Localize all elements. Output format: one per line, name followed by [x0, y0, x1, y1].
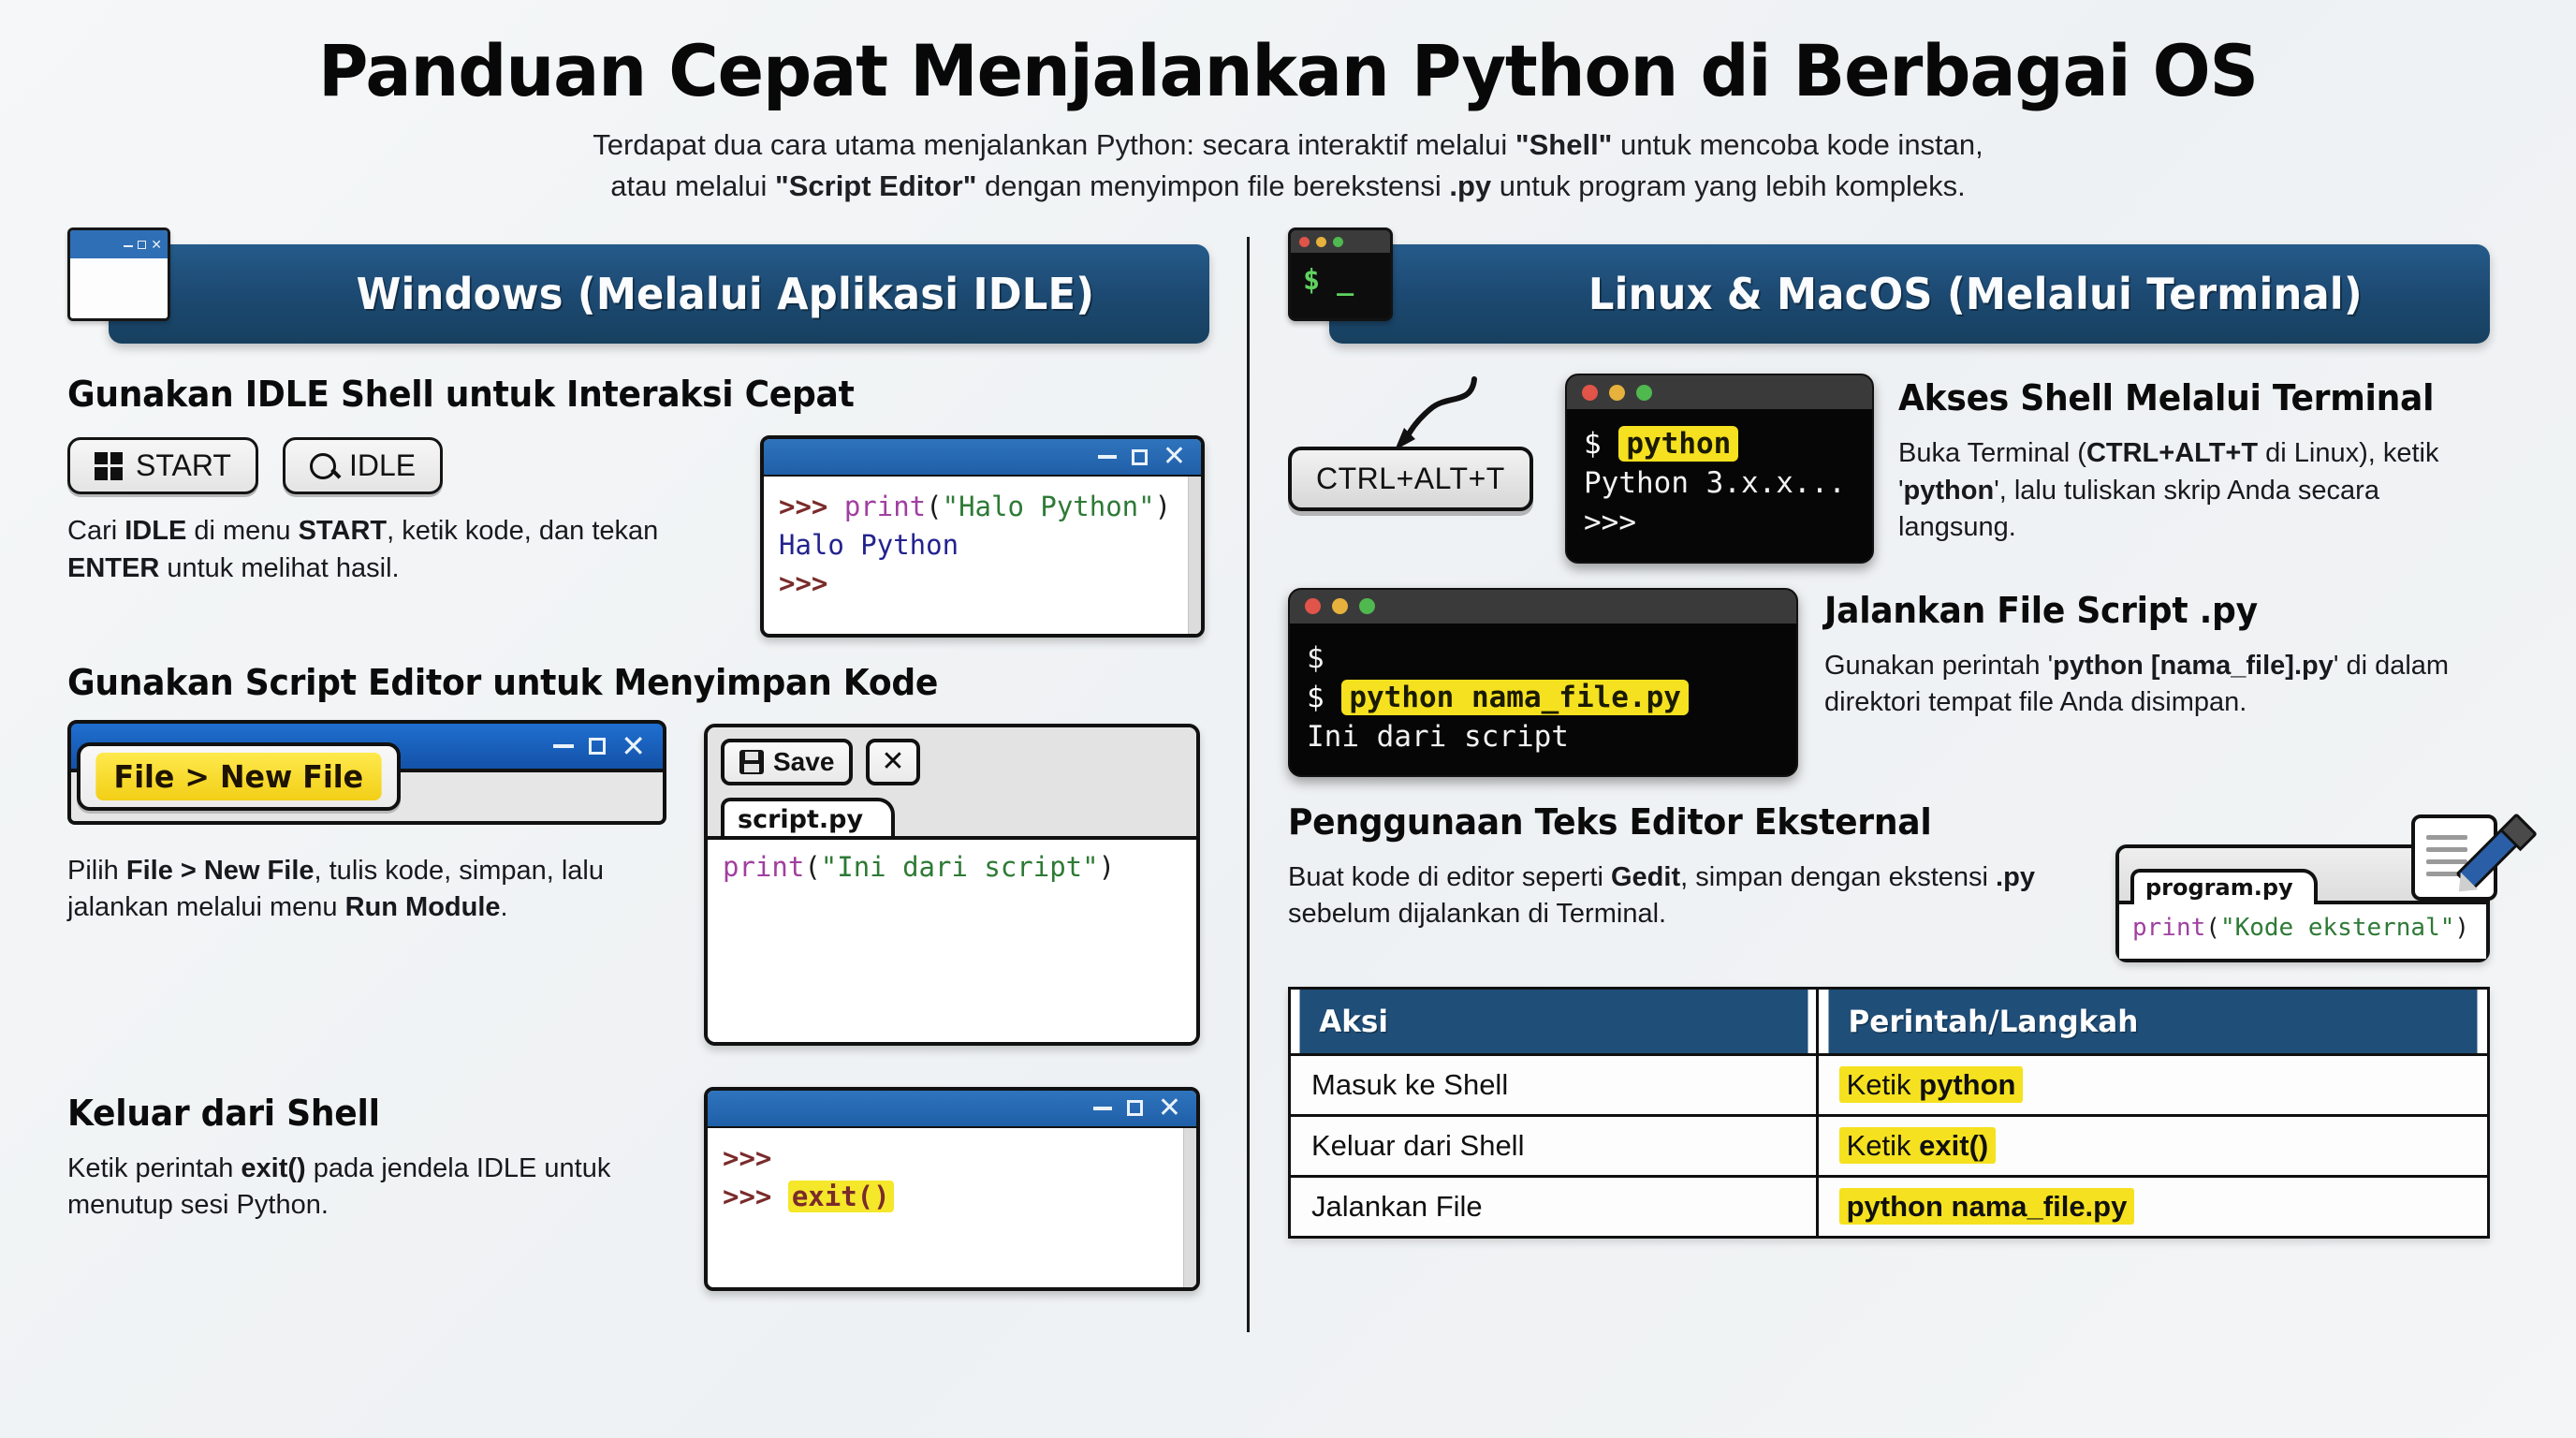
curved-arrow-icon	[1357, 374, 1488, 454]
body-text: .	[501, 892, 508, 922]
terminal-titlebar	[1290, 590, 1796, 624]
idle-shell-code: >>> print("Halo Python") Halo Python >>>	[764, 477, 1201, 634]
python-command-highlight: python	[1618, 426, 1738, 462]
body-emph-gedit: Gedit	[1611, 862, 1680, 892]
minimize-icon[interactable]	[1093, 1107, 1112, 1110]
close-icon[interactable]: ✕	[1158, 1098, 1181, 1119]
run-script-terminal-window[interactable]: $ $ python nama_file.py Ini dari script	[1288, 588, 1798, 777]
table-cell-command: Ketik python	[1817, 1055, 2488, 1116]
table-header-row: Aksi Perintah/Langkah	[1290, 989, 2489, 1055]
idle-shell-titlebar: ✕	[764, 439, 1201, 477]
section-exit-shell: Keluar dari Shell Ketik perintah exit() …	[67, 1087, 1209, 1291]
section-heading-idle-shell: Gunakan IDLE Shell untuk Interaksi Cepat	[67, 374, 1152, 415]
external-editor-window[interactable]: program.py print("Kode eksternal")	[2115, 844, 2490, 962]
body-emph-run-module: Run Module	[345, 892, 501, 922]
table-cell-aksi: Jalankan File	[1290, 1177, 1818, 1238]
body-text: Buka Terminal (	[1898, 438, 2086, 468]
term-line-2: Python 3.x.x...	[1584, 463, 1855, 503]
terminal-titlebar	[1567, 375, 1872, 409]
traffic-light-green-icon[interactable]	[1636, 385, 1652, 401]
term-line-2: $ python nama_file.py	[1307, 678, 1779, 717]
body-text: Ketik perintah	[67, 1153, 241, 1183]
terminal-titlebar	[1291, 230, 1390, 253]
two-column-body: Windows (Melalui Aplikasi IDLE) ✕ Guna	[0, 227, 2576, 1388]
body-emph-enter: ENTER	[67, 553, 159, 583]
traffic-light-green-icon	[1333, 237, 1343, 247]
script-editor-window[interactable]: Save ✕ script.py print("Ini	[704, 724, 1200, 1046]
body-text: Pilih	[67, 856, 126, 886]
traffic-light-yellow-icon[interactable]	[1332, 598, 1348, 614]
pencil-edit-icon	[2411, 814, 2497, 901]
summary-table: Aksi Perintah/Langkah Masuk ke Shell Ket…	[1288, 987, 2490, 1239]
terminal-prompt-glyph: $ _	[1291, 253, 1390, 297]
body-text: Buat kode di editor seperti	[1288, 862, 1611, 892]
exit-command-highlight: exit()	[788, 1181, 894, 1212]
table-row: Jalankan File python nama_file.py	[1290, 1177, 2489, 1238]
code-line-2: Halo Python	[779, 526, 1186, 565]
table-col-aksi: Aksi	[1297, 989, 1809, 1055]
table-col-perintah: Perintah/Langkah	[1827, 989, 2479, 1055]
body-emph-start: START	[299, 516, 388, 546]
idle-shell-window[interactable]: ✕ >>> print("Halo Python") Halo Python >…	[760, 435, 1205, 638]
body-text: sebelum dijalankan di Terminal.	[1288, 899, 1666, 929]
section-heading-exit-shell: Keluar dari Shell	[67, 1093, 637, 1134]
section-idle-shell: Gunakan IDLE Shell untuk Interaksi Cepat…	[67, 374, 1209, 638]
subtitle-emph-py: .py	[1449, 169, 1491, 202]
ctrl-alt-t-label: CTRL+ALT+T	[1316, 462, 1505, 496]
traffic-light-yellow-icon[interactable]	[1609, 385, 1625, 401]
idle-search-label: IDLE	[349, 448, 416, 483]
close-icon: ✕	[151, 241, 162, 249]
term-line-1: $	[1307, 638, 1779, 678]
term-line-3: >>>	[1584, 503, 1855, 542]
idle-search-button[interactable]: IDLE	[283, 437, 443, 494]
linux-macos-column: Linux & MacOS (Melalui Terminal) $ _	[1251, 227, 2524, 1388]
minimize-icon	[124, 242, 133, 247]
windows-pill-group: START IDLE	[67, 437, 723, 494]
code-line-1: print("Ini dari script")	[723, 851, 1181, 883]
code-line-1: >>>	[723, 1139, 1181, 1178]
page-title: Panduan Cepat Menjalankan Python di Berb…	[51, 34, 2525, 108]
window-titlebar: ✕	[70, 230, 168, 258]
windows-banner-wrap: Windows (Melalui Aplikasi IDLE) ✕	[67, 227, 1209, 360]
body-emph-exit: exit()	[241, 1153, 305, 1183]
table-cell-aksi: Masuk ke Shell	[1290, 1055, 1818, 1116]
summary-table-block: Aksi Perintah/Langkah Masuk ke Shell Ket…	[1288, 987, 2490, 1239]
terminal-output: $ python Python 3.x.x... >>>	[1567, 409, 1872, 561]
windows-banner: Windows (Melalui Aplikasi IDLE)	[109, 244, 1209, 344]
section-run-script: $ $ python nama_file.py Ini dari script …	[1288, 588, 2490, 777]
minimize-icon[interactable]	[1098, 455, 1117, 459]
terminal-output: $ $ python nama_file.py Ini dari script	[1290, 624, 1796, 775]
traffic-light-red-icon	[1299, 237, 1310, 247]
infographic-page: Panduan Cepat Menjalankan Python di Berb…	[0, 0, 2576, 1438]
body-text: Cari	[67, 516, 124, 546]
script-editor-toolbar: Save ✕ script.py	[708, 727, 1196, 836]
page-subtitle: Terdapat dua cara utama menjalankan Pyth…	[0, 125, 2576, 207]
subtitle-text-3: atau melalui	[610, 169, 775, 202]
exit-shell-titlebar: ✕	[708, 1091, 1196, 1128]
section-access-shell: CTRL+ALT+T $ python Pytho	[1288, 374, 2490, 563]
body-text: , simpan dengan ekstensi	[1680, 862, 1996, 892]
subtitle-text-1: Terdapat dua cara utama menjalankan Pyth…	[593, 128, 1515, 161]
maximize-icon[interactable]	[1127, 1100, 1143, 1116]
external-editor-code[interactable]: print("Kode eksternal")	[2119, 901, 2486, 959]
subtitle-emph-shell: "Shell"	[1515, 128, 1612, 161]
python-terminal-window[interactable]: $ python Python 3.x.x... >>>	[1565, 374, 1874, 563]
section-heading-run-script: Jalankan File Script .py	[1824, 590, 2456, 631]
command-highlight: Ketik python	[1839, 1066, 2024, 1103]
body-text: Gunakan perintah '	[1824, 651, 2053, 681]
maximize-icon[interactable]	[1132, 449, 1148, 465]
traffic-light-red-icon[interactable]	[1582, 385, 1598, 401]
table-row: Keluar dari Shell Ketik exit()	[1290, 1116, 2489, 1177]
section-heading-external-editor: Penggunaan Teks Editor Eksternal	[1288, 801, 2047, 843]
search-icon	[310, 453, 336, 479]
section-heading-access-shell: Akses Shell Melalui Terminal	[1898, 377, 2460, 418]
script-editor-code[interactable]: print("Ini dari script")	[708, 836, 1196, 1042]
term-line-1: $ python	[1584, 424, 1855, 463]
subtitle-text-4: dengan menyimpon file berekstensi	[976, 169, 1449, 202]
maximize-icon	[138, 241, 146, 249]
body-emph-py-ext: .py	[1996, 862, 2035, 892]
ctrl-alt-t-keycap[interactable]: CTRL+ALT+T	[1288, 447, 1533, 511]
save-button-label: Save	[773, 747, 834, 777]
traffic-light-green-icon[interactable]	[1359, 598, 1375, 614]
body-emph-python: python	[1904, 476, 1995, 506]
section-body-run-script: Gunakan perintah 'python [nama_file].py'…	[1824, 648, 2490, 722]
windows-window-icon: ✕	[67, 227, 170, 321]
code-line-2: >>> exit()	[723, 1178, 1181, 1216]
section-external-editor: Penggunaan Teks Editor Eksternal Buat ko…	[1288, 801, 2490, 962]
body-emph-file-new: File > New File	[126, 856, 315, 886]
table-cell-aksi: Keluar dari Shell	[1290, 1116, 1818, 1177]
body-text: , ketik kode, dan tekan	[387, 516, 658, 546]
table-row: Masuk ke Shell Ketik python	[1290, 1055, 2489, 1116]
section-body-idle-shell: Cari IDLE di menu START, ketik kode, dan…	[67, 513, 723, 587]
new-file-window[interactable]: ✕ File > New File	[67, 720, 666, 825]
scrollbar[interactable]	[1183, 1128, 1196, 1287]
section-script-editor: Gunakan Script Editor untuk Menyimpan Ko…	[67, 662, 1209, 1046]
terminal-banner-label: Linux & MacOS (Melalui Terminal)	[1456, 269, 2363, 319]
code-line-3: >>>	[779, 565, 1186, 603]
start-button[interactable]: START	[67, 437, 258, 494]
subtitle-text-5: untuk program yang lebih kompleks.	[1491, 169, 1966, 202]
traffic-light-yellow-icon	[1316, 237, 1326, 247]
hero-header: Panduan Cepat Menjalankan Python di Berb…	[0, 0, 2576, 207]
terminal-banner-wrap: Linux & MacOS (Melalui Terminal) $ _	[1288, 227, 2490, 360]
table-cell-command: python nama_file.py	[1817, 1177, 2488, 1238]
file-tab-script-py[interactable]: script.py	[721, 798, 895, 840]
code-line-1: >>> print("Halo Python")	[779, 488, 1186, 526]
close-icon[interactable]: ✕	[1163, 447, 1186, 467]
windows-logo-icon	[95, 452, 123, 480]
save-button[interactable]: Save	[721, 739, 853, 785]
close-icon[interactable]: ✕	[621, 736, 646, 756]
scrollbar[interactable]	[1188, 477, 1201, 634]
body-emph-idle: IDLE	[124, 516, 186, 546]
file-new-file-label: File > New File	[95, 753, 381, 800]
window-body	[70, 258, 168, 321]
start-button-label: START	[136, 448, 231, 483]
subtitle-text-2: untuk mencoba kode instan,	[1612, 128, 1983, 161]
command-highlight: Ketik exit()	[1839, 1127, 1997, 1164]
body-text: di menu	[186, 516, 298, 546]
file-new-file-callout: File > New File	[77, 742, 401, 811]
table-cell-command: Ketik exit()	[1817, 1116, 2488, 1177]
body-emph-run-command: python [nama_file].py	[2053, 651, 2334, 681]
term-line-3: Ini dari script	[1307, 717, 1779, 756]
exit-shell-code: >>> >>> exit()	[708, 1128, 1196, 1287]
body-emph-ctrl-alt-t: CTRL+ALT+T	[2086, 438, 2258, 468]
close-x-icon: ✕	[881, 750, 904, 774]
run-script-command-highlight: python nama_file.py	[1341, 680, 1689, 715]
close-button[interactable]: ✕	[866, 739, 919, 785]
windows-banner-label: Windows (Melalui Aplikasi IDLE)	[224, 269, 1094, 319]
body-text: untuk melihat hasil.	[159, 553, 399, 583]
terminal-window-icon: $ _	[1288, 227, 1393, 321]
section-body-script-editor: Pilih File > New File, tulis kode, simpa…	[67, 853, 666, 927]
terminal-banner: Linux & MacOS (Melalui Terminal)	[1329, 244, 2490, 344]
subtitle-emph-editor: "Script Editor"	[775, 169, 976, 202]
section-body-external-editor: Buat kode di editor seperti Gedit, simpa…	[1288, 859, 2087, 933]
maximize-icon[interactable]	[589, 738, 606, 755]
section-heading-script-editor: Gunakan Script Editor untuk Menyimpan Ko…	[67, 662, 1152, 703]
file-tab-program-py[interactable]: program.py	[2130, 869, 2318, 904]
windows-column: Windows (Melalui Aplikasi IDLE) ✕ Guna	[0, 227, 1245, 1388]
command-highlight: python nama_file.py	[1839, 1188, 2135, 1225]
traffic-light-red-icon[interactable]	[1305, 598, 1321, 614]
minimize-icon[interactable]	[553, 744, 574, 748]
section-body-access-shell: Buka Terminal (CTRL+ALT+T di Linux), ket…	[1898, 435, 2490, 546]
floppy-disk-icon	[739, 750, 764, 774]
section-body-exit-shell: Ketik perintah exit() pada jendela IDLE …	[67, 1151, 666, 1225]
exit-shell-window[interactable]: ✕ >>> >>> exit()	[704, 1087, 1200, 1291]
